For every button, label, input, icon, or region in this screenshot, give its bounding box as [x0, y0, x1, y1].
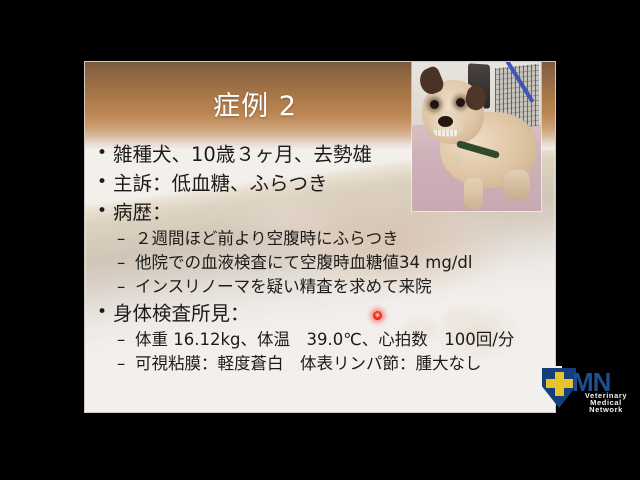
laser-pointer-dot: [373, 311, 382, 320]
page-title: 症例 2: [85, 84, 425, 123]
bullet-item: 雑種犬、10歳３ヶ月、去勢雄: [85, 140, 555, 169]
photo-dog-eye-right: [456, 98, 465, 107]
cross-icon-horizontal: [546, 379, 573, 388]
slide-body: 雑種犬、10歳３ヶ月、去勢雄 主訴：低血糖、ふらつき 病歴： ２週間ほど前より空…: [85, 140, 555, 376]
presentation-viewport: 症例 2 雑種犬、10歳３ヶ月、去勢雄 主訴：低血糖、ふらつき 病歴: [0, 0, 640, 480]
sub-bullet-item: 体重 16.12kg、体温 39.0℃、心拍数 100回/分: [85, 328, 555, 352]
photo-dog-eye-left: [430, 100, 439, 109]
sub-bullet-item: インスリノーマを疑い精査を求めて来院: [85, 275, 555, 299]
vmn-logo: MN Veterinary Medical Network: [538, 366, 640, 412]
photo-dog-nose: [438, 116, 453, 127]
sub-bullet-item: 可視粘膜：軽度蒼白 体表リンパ節：腫大なし: [85, 352, 555, 376]
logo-subtitle-line3: Network: [572, 405, 640, 414]
sub-bullet-item: ２週間ほど前より空腹時にふらつき: [85, 227, 555, 251]
sub-bullet-item: 他院での血液検査にて空腹時血糖値34 mg/dl: [85, 251, 555, 275]
bullet-item: 身体検査所見：: [85, 299, 555, 328]
slide-canvas: 症例 2 雑種犬、10歳３ヶ月、去勢雄 主訴：低血糖、ふらつき 病歴: [85, 62, 555, 412]
bullet-item: 主訴：低血糖、ふらつき: [85, 169, 555, 198]
photo-dog-teeth: [434, 130, 458, 136]
bullet-item: 病歴：: [85, 198, 555, 227]
